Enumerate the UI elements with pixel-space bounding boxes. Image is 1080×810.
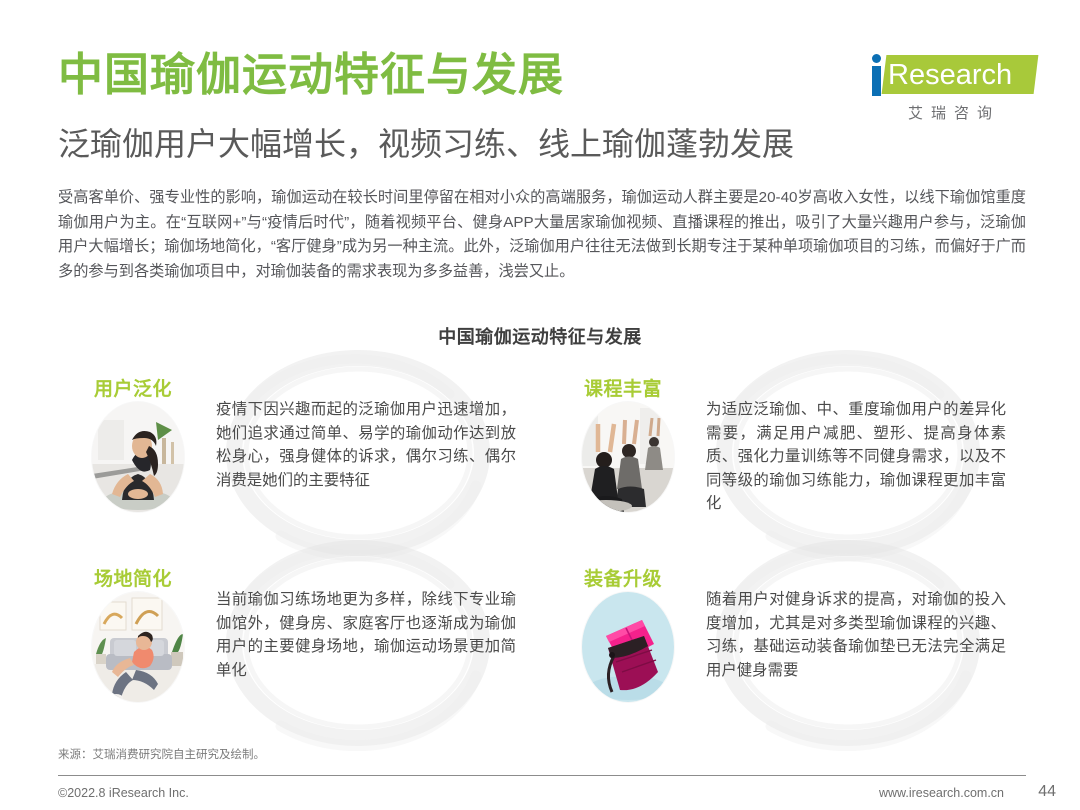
page-subtitle: 泛瑜伽用户大幅增长，视频习练、线上瑜伽蓬勃发展 <box>58 124 794 164</box>
page-header: 中国瑜伽运动特征与发展 泛瑜伽用户大幅增长，视频习练、线上瑜伽蓬勃发展 Rese… <box>0 0 1080 175</box>
feature-body: 疫情下因兴趣而起的泛瑜伽用户迅速增加，她们追求通过简单、易学的瑜伽动作达到放松身… <box>216 398 516 492</box>
feature-heading: 课程丰富 <box>584 374 662 401</box>
photo-pink-yoga-mat-in-bag <box>582 592 674 702</box>
footer-divider <box>58 775 1026 776</box>
feature-grid: 用户泛化 疫情下因兴趣而起的泛瑜伽 <box>0 358 1080 738</box>
feature-heading: 用户泛化 <box>94 374 172 401</box>
feature-cell-equipment-upgrade: 装备升级 随着用户对健身诉求的提高，对瑜伽的投入度增加，尤其是对多类型瑜伽课程的… <box>568 548 1018 738</box>
feature-body: 随着用户对健身诉求的提高，对瑜伽的投入度增加，尤其是对多类型瑜伽课程的兴趣、习练… <box>706 588 1006 682</box>
intro-paragraph: 受高客单价、强专业性的影响，瑜伽运动在较长时间里停留在相对小众的高端服务，瑜伽运… <box>58 186 1026 284</box>
logo-chinese-name: 艾瑞咨询 <box>870 102 1038 123</box>
photo-group-yoga-class-arms-raised <box>582 402 674 512</box>
iresearch-logo: Research 艾瑞咨询 <box>866 52 1038 126</box>
feature-heading: 场地简化 <box>94 564 172 591</box>
feature-cell-user-generalization: 用户泛化 疫情下因兴趣而起的泛瑜伽 <box>78 358 528 548</box>
feature-heading: 装备升级 <box>584 564 662 591</box>
source-note: 来源：艾瑞消费研究院自主研究及绘制。 <box>58 746 265 762</box>
logo-i-dot-icon <box>872 54 881 63</box>
page-number: 44 <box>1038 783 1056 801</box>
photo-woman-meditating-lotus-pose <box>92 402 184 512</box>
photo-woman-stretching-living-room <box>92 592 184 702</box>
feature-body: 当前瑜伽习练场地更为多样，除线下专业瑜伽馆外，健身房、家庭客厅也逐渐成为瑜伽用户… <box>216 588 516 682</box>
logo-i-stem-icon <box>872 66 881 96</box>
logo-wordmark: Research <box>888 58 1038 92</box>
feature-cell-rich-courses: 课程丰富 <box>568 358 1018 548</box>
page-title: 中国瑜伽运动特征与发展 <box>58 52 564 97</box>
feature-body: 为适应泛瑜伽、中、重度瑜伽用户的差异化需要，满足用户减肥、塑形、提高身体素质、强… <box>706 398 1006 516</box>
logo-mark: Research <box>866 52 1038 98</box>
copyright-text: ©2022.8 iResearch Inc. <box>58 786 189 800</box>
section-heading: 中国瑜伽运动特征与发展 <box>0 323 1080 349</box>
feature-cell-simplified-venue: 场地简化 <box>78 548 528 738</box>
website-url[interactable]: www.iresearch.com.cn <box>879 786 1004 800</box>
